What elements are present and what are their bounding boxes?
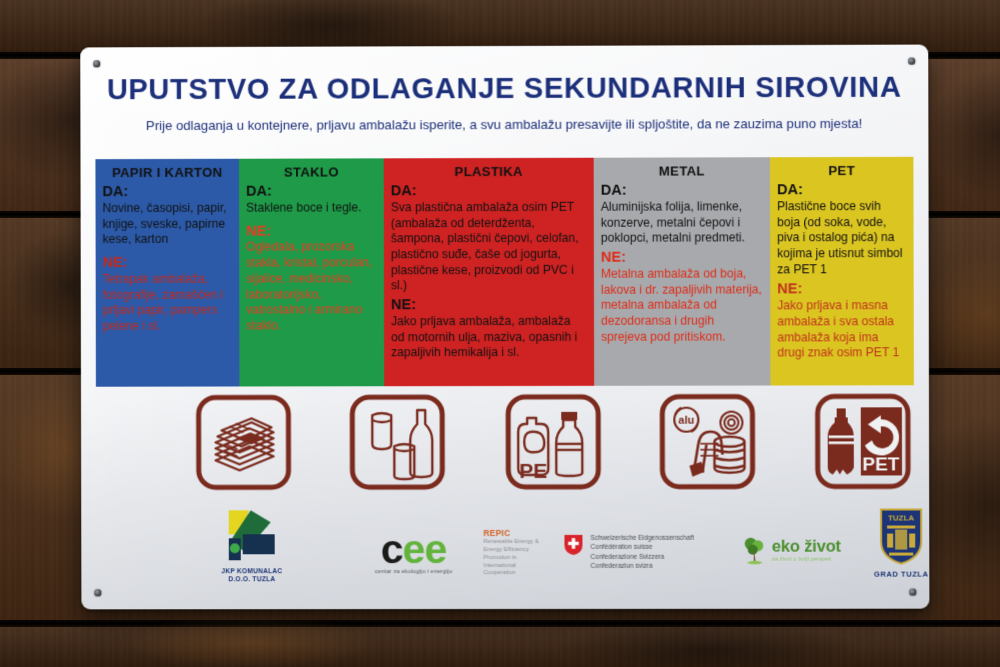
no-text: Metalna ambalaža od boja, lakova i dr. z…: [601, 266, 763, 345]
screw-top-right: [908, 58, 915, 65]
yes-text: Sva plastična ambalaža osim PET (ambalaž…: [391, 200, 587, 295]
swiss-line-it: Confederazione Svizzera: [591, 553, 695, 562]
column-title: PET: [777, 163, 906, 178]
tuzla-crest-icon: TUZLA: [877, 505, 925, 567]
repic-title: REPIC: [483, 528, 555, 538]
yes-text: Staklene boce i tegle.: [246, 200, 377, 216]
yes-label: DA:: [391, 183, 587, 200]
yes-label: DA:: [246, 183, 377, 200]
pet-bottle-recycle-icon: PET: [815, 393, 912, 489]
column-title: PLASTIKA: [391, 164, 587, 180]
category-columns: PAPIR I KARTON DA: Novine, časopisi, pap…: [95, 157, 913, 387]
tree-icon: [742, 536, 768, 566]
wall-plank-gap: [0, 620, 1000, 627]
cee-tagline: centar za ekologiju i energiju: [354, 569, 474, 575]
metal-can-alu-icon: alu: [659, 394, 755, 490]
eko-zivot-logo: eko život za život u bolji perspek: [742, 536, 872, 566]
jkp-komunalac-logo: JKP KOMUNALAC D.O.O. TUZLA: [204, 508, 300, 585]
alu-label: alu: [678, 415, 694, 427]
no-text: Jako prljava i masna ambalaža i sva osta…: [777, 298, 907, 361]
page-subtitle: Prije odlaganja u kontejnere, prljavu am…: [106, 116, 902, 133]
sign-header: UPUTSTVO ZA ODLAGANJE SEKUNDARNIH SIROVI…: [80, 45, 928, 134]
crest-label: TUZLA: [888, 513, 915, 522]
page-title: UPUTSTVO ZA ODLAGANJE SEKUNDARNIH SIROVI…: [106, 71, 902, 108]
cee-letter-c: c: [381, 526, 403, 572]
yes-label: DA:: [102, 184, 232, 201]
jkp-caption-line2: D.O.O. TUZLA: [204, 577, 300, 586]
yes-label: DA:: [777, 182, 906, 199]
screw-bottom-left: [94, 589, 101, 596]
wooden-wall-background: UPUTSTVO ZA ODLAGANJE SEKUNDARNIH SIROVI…: [0, 0, 1000, 667]
no-label: NE:: [103, 255, 233, 272]
category-column-metal: METAL DA: Aluminijska folija, limenke, k…: [594, 157, 771, 386]
grad-tuzla-logo: TUZLA GRAD TUZLA: [859, 505, 929, 578]
category-column-pet: PET DA: Plastične boce svih boja (od sok…: [770, 157, 914, 386]
instruction-sign-board: UPUTSTVO ZA ODLAGANJE SEKUNDARNIH SIROVI…: [80, 45, 929, 610]
screw-top-left: [93, 60, 100, 67]
category-column-plastic: PLASTIKA DA: Sva plastična ambalaža osim…: [384, 158, 594, 386]
eko-zivot-tagline: za život u bolji perspek: [772, 556, 841, 562]
wall-plank: [0, 627, 1000, 667]
yes-text: Aluminijska folija, limenke, konzerve, m…: [601, 199, 763, 247]
cee-wordmark: cee: [354, 532, 474, 567]
no-label: NE:: [777, 281, 906, 298]
repic-logo: REPIC Renewable Energy &Energy Efficienc…: [483, 528, 555, 578]
no-text: Tetrapak ambalaža, fotografije, zamašćen…: [103, 271, 233, 334]
no-text: Jako prljava ambalaža, ambalaža od motor…: [391, 314, 587, 362]
swiss-line-fr: Confédération suisse: [590, 543, 694, 552]
paper-stack-icon: [196, 394, 292, 490]
category-column-glass: STAKLO DA: Staklene boce i tegle. NE: Og…: [239, 158, 384, 386]
category-column-paper: PAPIR I KARTON DA: Novine, časopisi, pap…: [95, 159, 239, 387]
pe-label: PE: [519, 460, 547, 483]
swiss-cross-shield-icon: [563, 534, 583, 556]
column-title: PAPIR I KARTON: [102, 165, 232, 180]
yes-text: Plastične boce svih boja (od soka, vode,…: [777, 199, 907, 278]
no-label: NE:: [391, 297, 587, 314]
plastic-bottles-pe-icon: PE: [505, 394, 601, 490]
no-text: Ogledala, prozorska stakla, kristal, por…: [246, 240, 377, 335]
pet-label: PET: [862, 454, 900, 475]
cee-logo: cee centar za ekologiju i energiju: [354, 532, 474, 576]
column-title: METAL: [601, 163, 763, 178]
cee-letters-ee: ee: [403, 526, 447, 572]
yes-label: DA:: [601, 182, 763, 199]
yes-text: Novine, časopisi, papir, knjige, sveske,…: [102, 201, 232, 248]
no-label: NE:: [246, 223, 377, 240]
screw-bottom-right: [909, 589, 916, 596]
column-title: STAKLO: [246, 164, 377, 179]
logo-strip: JKP KOMUNALAC D.O.O. TUZLA cee centar za…: [99, 507, 911, 600]
repic-body: Renewable Energy &Energy EfficiencyPromo…: [483, 539, 555, 578]
swiss-line-rm: Confederaziun svizra: [591, 562, 695, 571]
jkp-caption-line1: JKP KOMUNALAC: [204, 568, 300, 577]
no-label: NE:: [601, 249, 763, 266]
pictogram-row: PE alu: [103, 393, 909, 502]
swiss-line-de: Schweizerische Eidgenossenschaft: [590, 534, 694, 543]
glass-jar-bottle-icon: [349, 394, 445, 490]
grad-tuzla-caption: GRAD TUZLA: [859, 570, 929, 579]
eko-zivot-wordmark: eko život: [772, 539, 841, 556]
